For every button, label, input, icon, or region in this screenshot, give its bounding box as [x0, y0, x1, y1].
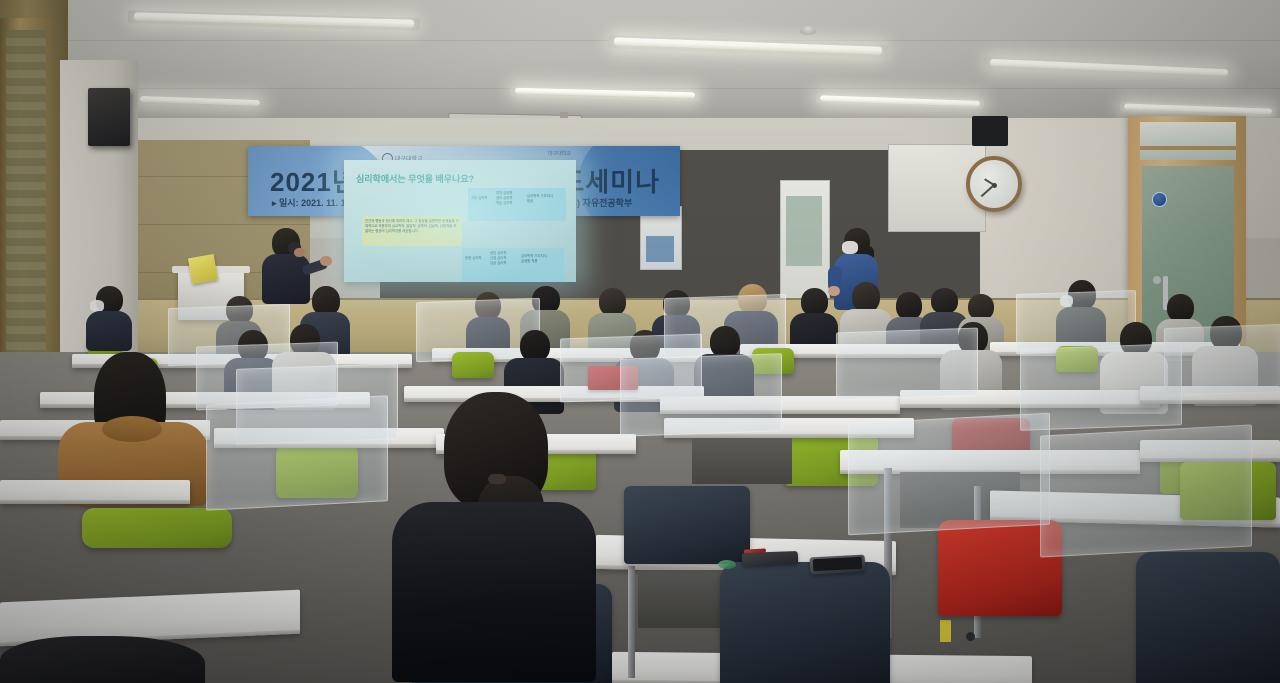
screen-glow: [340, 156, 580, 286]
door-transom-bar: [1140, 146, 1236, 150]
desk-caster: [966, 632, 975, 641]
assistant-mask: [842, 241, 858, 254]
wall-poster-image: [646, 236, 674, 262]
chair[interactable]: [82, 508, 232, 548]
smartphone-1[interactable]: [742, 551, 798, 566]
wall-clock: [966, 156, 1022, 212]
chair[interactable]: [624, 486, 750, 564]
chair[interactable]: [1136, 552, 1280, 683]
hair-tie: [488, 474, 506, 484]
yellow-paper: [188, 254, 218, 284]
security-sticker-icon: [1152, 192, 1167, 207]
clock-center-pin: [992, 183, 997, 188]
green-desk-item: [718, 560, 736, 569]
presenter-hand: [294, 248, 305, 257]
phone-screen: [813, 557, 863, 572]
desk: [0, 480, 190, 504]
foreground-bag: [0, 636, 205, 683]
student-black-ponytail: [366, 392, 618, 682]
yellow-tag: [940, 620, 951, 642]
desk-leg: [628, 566, 635, 678]
wall-monitor: [972, 116, 1008, 146]
wall-speaker: [88, 88, 130, 146]
acrylic-divider: [836, 328, 978, 401]
audience-member: [86, 286, 134, 348]
chair[interactable]: [720, 562, 890, 683]
presenter-hand: [320, 256, 332, 266]
acrylic-divider: [848, 413, 1050, 536]
lecture-hall-photo: 대구대학교 대구대학교 2021년 도세미나 ▸ 일시: 2021. 11. 1…: [0, 0, 1280, 683]
door-transom-window: [1140, 122, 1236, 160]
student-jacket: [392, 502, 596, 682]
smartphone-2[interactable]: [810, 555, 866, 575]
desk-modesty-panel: [692, 438, 792, 484]
hoodie-hood: [102, 416, 162, 442]
acrylic-divider: [620, 353, 782, 437]
smoke-detector-icon: [800, 26, 816, 35]
door-lock-icon[interactable]: [1153, 276, 1161, 284]
banner-date: ▸ 일시: 2021. 11. 11: [272, 196, 350, 209]
acrylic-divider: [1040, 424, 1252, 557]
chair[interactable]: [452, 352, 494, 378]
acrylic-divider: [206, 395, 388, 511]
side-board-panel: [786, 196, 822, 266]
